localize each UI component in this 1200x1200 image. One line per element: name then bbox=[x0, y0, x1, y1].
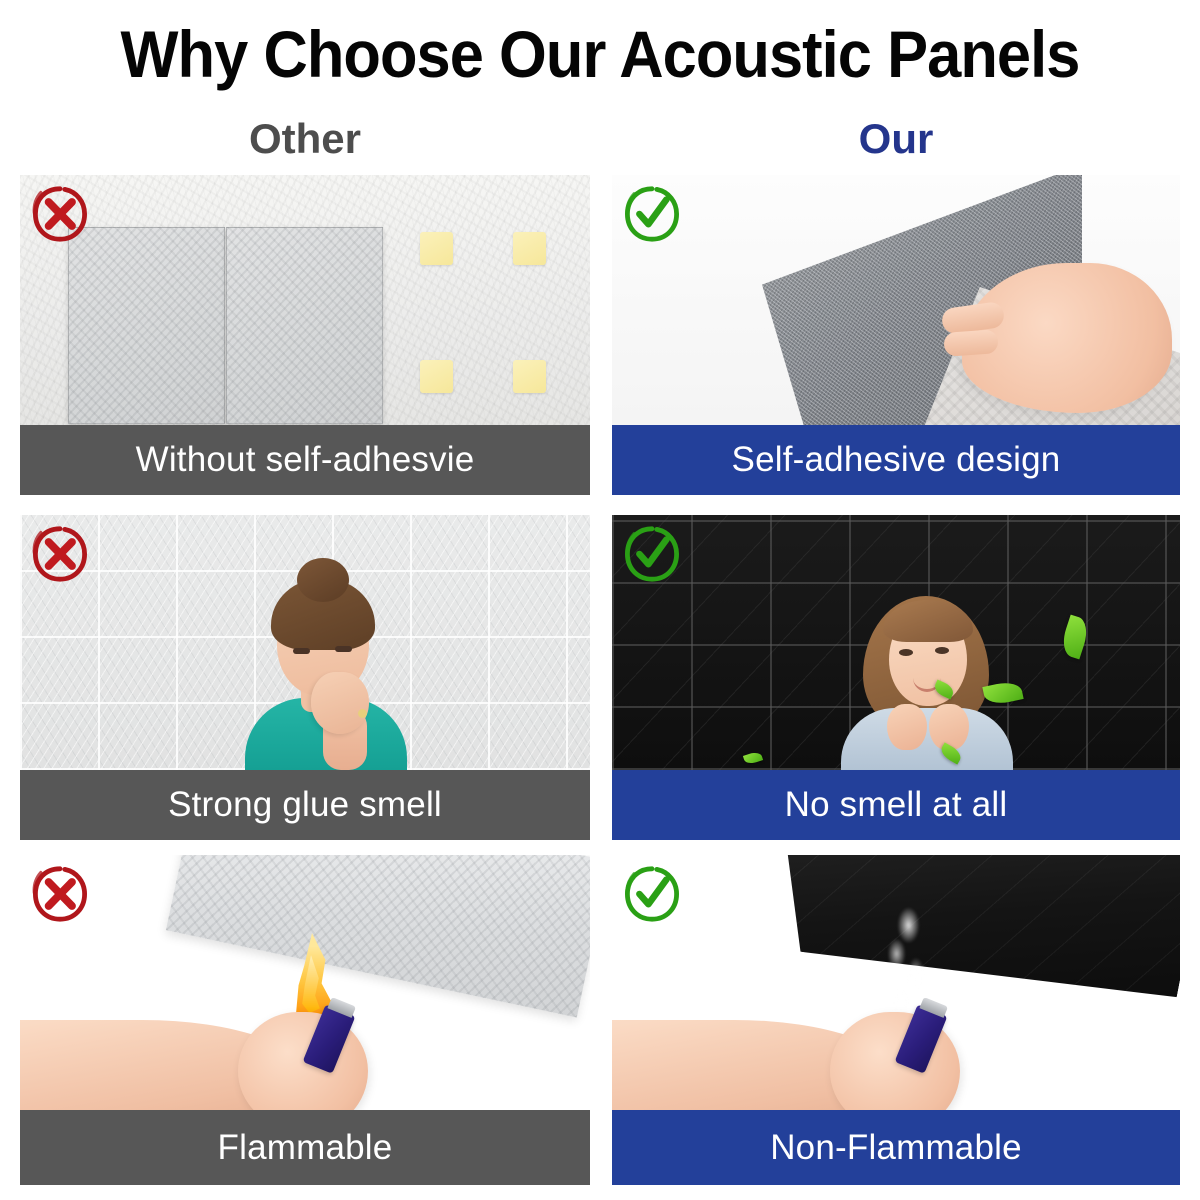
acoustic-panel-right bbox=[226, 227, 383, 424]
adhesive-pad bbox=[420, 360, 453, 393]
comparison-cell-our-flammability: Non-Flammable bbox=[612, 855, 1180, 1185]
cross-icon bbox=[30, 184, 90, 244]
caption-our-adhesion: Self-adhesive design bbox=[612, 425, 1180, 495]
page-title: Why Choose Our Acoustic Panels bbox=[42, 20, 1158, 89]
column-header-our: Our bbox=[612, 118, 1180, 160]
fist bbox=[929, 704, 969, 750]
photo-our-adhesion bbox=[612, 175, 1180, 425]
caption-other-odor: Strong glue smell bbox=[20, 770, 590, 840]
girl-smiling bbox=[837, 570, 1017, 770]
eye bbox=[335, 646, 352, 652]
caption-other-adhesion: Without self-adhesvie bbox=[20, 425, 590, 495]
acoustic-panel-left bbox=[68, 227, 225, 424]
denim-shirt bbox=[841, 708, 1013, 770]
eye bbox=[293, 648, 310, 654]
adhesive-pad bbox=[513, 232, 546, 265]
ring bbox=[358, 709, 367, 718]
photo-other-adhesion bbox=[20, 175, 590, 425]
woman-pinching-nose bbox=[235, 555, 415, 770]
comparison-infographic: Why Choose Our Acoustic Panels Other Our… bbox=[0, 0, 1200, 1200]
photo-our-odor bbox=[612, 515, 1180, 770]
photo-other-flammability bbox=[20, 855, 590, 1110]
comparison-cell-other-adhesion: Without self-adhesvie bbox=[20, 175, 590, 495]
check-icon bbox=[622, 184, 682, 244]
finger bbox=[943, 329, 999, 357]
hair-bun bbox=[297, 558, 349, 602]
check-icon bbox=[622, 864, 682, 924]
photo-other-odor bbox=[20, 515, 590, 770]
comparison-cell-other-flammability: Flammable bbox=[20, 855, 590, 1185]
adhesive-pad bbox=[513, 360, 546, 393]
eye bbox=[935, 647, 949, 654]
comparison-cell-our-adhesion: Self-adhesive design bbox=[612, 175, 1180, 495]
cross-icon bbox=[30, 524, 90, 584]
comparison-cell-other-odor: Strong glue smell bbox=[20, 515, 590, 840]
hand bbox=[311, 672, 369, 734]
comparison-cell-our-odor: No smell at all bbox=[612, 515, 1180, 840]
fist bbox=[887, 704, 927, 750]
adhesive-pad bbox=[420, 232, 453, 265]
cross-icon bbox=[30, 864, 90, 924]
caption-other-flammability: Flammable bbox=[20, 1110, 590, 1185]
caption-our-flammability: Non-Flammable bbox=[612, 1110, 1180, 1185]
column-header-other: Other bbox=[20, 118, 590, 160]
caption-our-odor: No smell at all bbox=[612, 770, 1180, 840]
eye bbox=[899, 649, 913, 656]
check-icon bbox=[622, 524, 682, 584]
photo-our-flammability bbox=[612, 855, 1180, 1110]
